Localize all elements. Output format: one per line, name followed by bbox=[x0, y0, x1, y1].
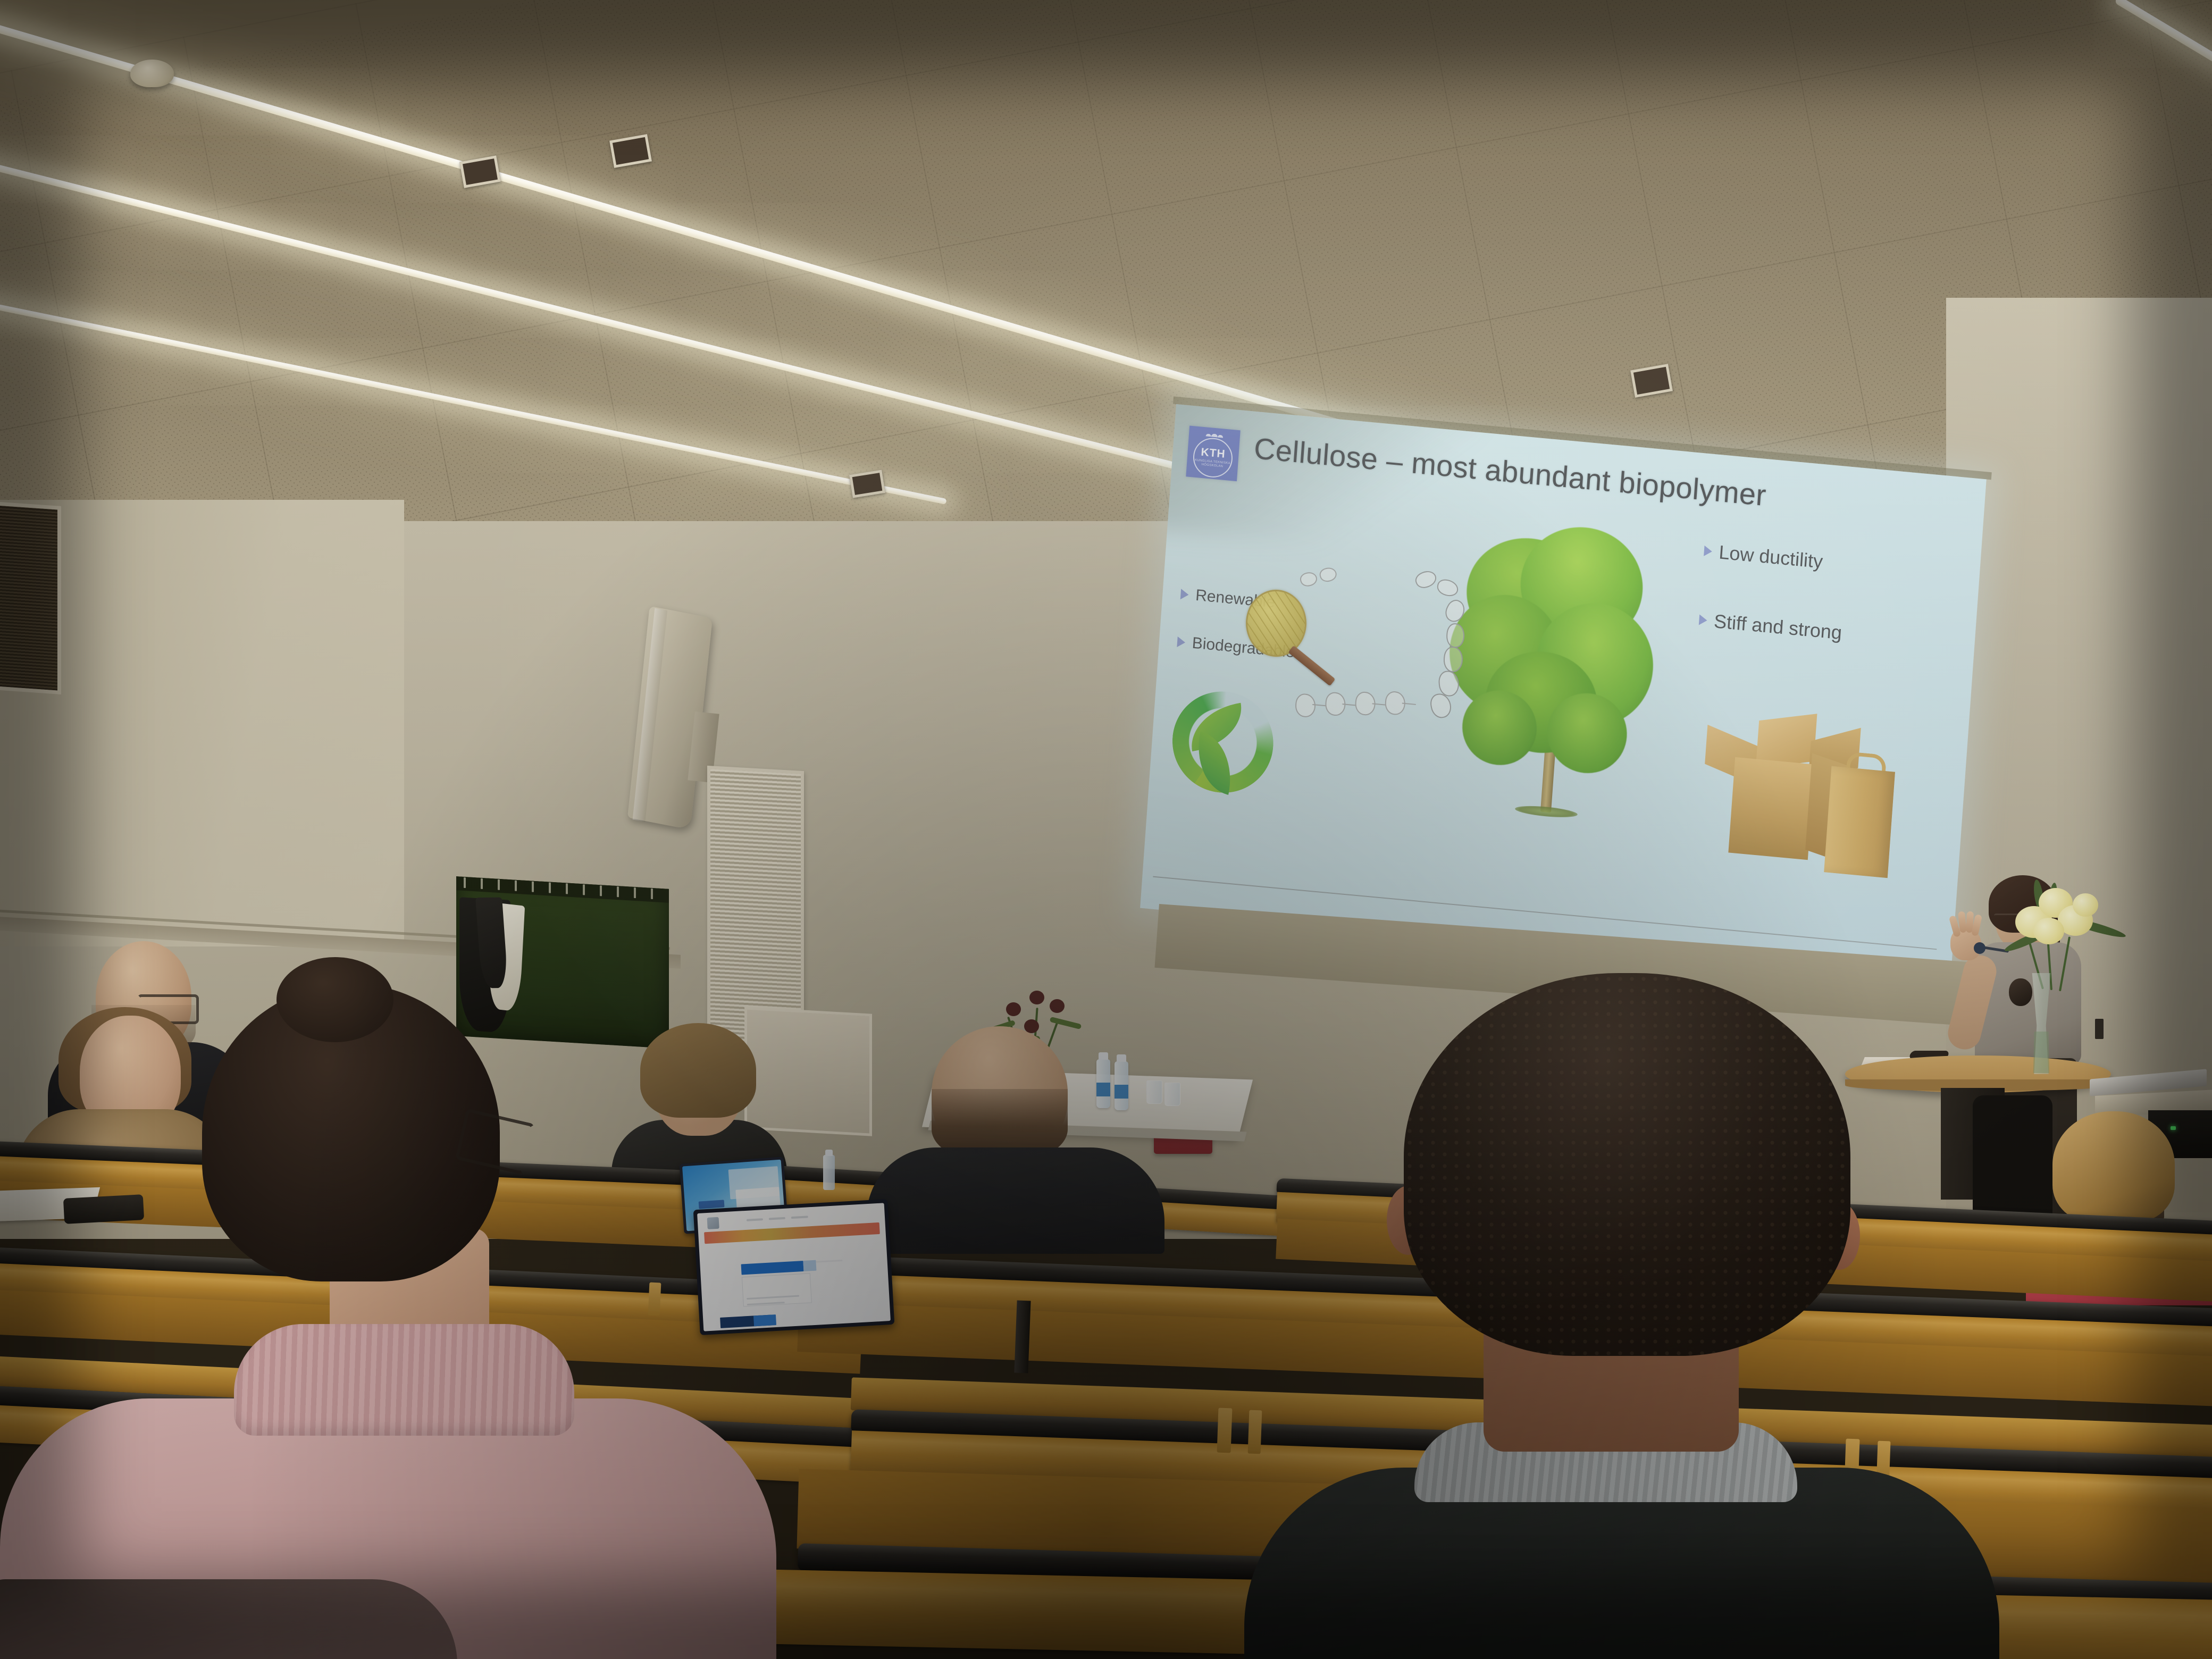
bullet-triangle-icon bbox=[1704, 546, 1712, 557]
coat-hook-icon bbox=[634, 887, 636, 898]
flower-head bbox=[2033, 918, 2064, 944]
cellulose-chain-graphic bbox=[1286, 559, 1457, 749]
bullet-triangle-icon bbox=[1180, 589, 1189, 600]
foreground-man-curly-hair bbox=[1308, 973, 1925, 1659]
coat-hook-icon bbox=[549, 882, 551, 893]
text-line bbox=[816, 1260, 842, 1263]
bullet-label: Stiff and strong bbox=[1713, 610, 1843, 644]
flower-bud bbox=[1050, 999, 1065, 1013]
flower-bouquet bbox=[1983, 872, 2154, 1010]
small-water-bottle[interactable] bbox=[823, 1155, 835, 1190]
shoulder-shadow bbox=[0, 1579, 457, 1659]
cellulose-ring bbox=[1413, 568, 1439, 591]
tree-graphic-icon bbox=[1435, 510, 1679, 828]
kth-logo-text: KTH bbox=[1201, 447, 1226, 460]
flower-bud bbox=[1006, 1002, 1021, 1016]
smoke-detector-icon bbox=[130, 60, 174, 87]
coat-hook-icon bbox=[583, 884, 585, 895]
slide-bullet-low-ductility: Low ductility bbox=[1703, 540, 1823, 573]
stem bbox=[2059, 936, 2071, 991]
bullet-triangle-icon bbox=[1177, 636, 1185, 648]
coat-hook-icon bbox=[498, 879, 500, 890]
hair-texture bbox=[1404, 973, 1850, 1356]
audience-man-dark-suit bbox=[872, 1026, 1159, 1250]
flower-bud bbox=[1029, 991, 1044, 1004]
coat-hook-icon bbox=[566, 883, 568, 894]
coat-hook-icon bbox=[600, 885, 602, 896]
turtleneck-collar bbox=[234, 1324, 574, 1436]
eco-recycle-leaf-icon bbox=[1169, 687, 1277, 797]
coat-hook-icon bbox=[617, 886, 619, 897]
coat-hook-icon bbox=[515, 881, 517, 891]
bullet-label: Low ductility bbox=[1718, 541, 1823, 573]
flower-head bbox=[2073, 893, 2098, 917]
bench-support bbox=[1014, 1301, 1030, 1373]
bullet-triangle-icon bbox=[1699, 615, 1707, 626]
hair-bun bbox=[276, 957, 393, 1042]
glucose-unit bbox=[1318, 566, 1338, 583]
wall-grille-panel bbox=[0, 502, 61, 694]
small-bottle-cap bbox=[825, 1150, 833, 1156]
box-front-face bbox=[1728, 757, 1814, 860]
glucose-unit bbox=[1298, 571, 1319, 588]
blonde-hair bbox=[2052, 1111, 2175, 1223]
coat-hook-icon bbox=[532, 882, 534, 892]
kth-logo-ring: KTH KUNGLIGA TEKNISKA HÖGSKOLAN bbox=[1192, 436, 1234, 479]
coat-hook-icon bbox=[464, 877, 466, 888]
kth-logo-icon: KTH KUNGLIGA TEKNISKA HÖGSKOLAN bbox=[1186, 425, 1240, 481]
bench-divider bbox=[1248, 1410, 1262, 1454]
lecture-hall-photo: KTH KUNGLIGA TEKNISKA HÖGSKOLAN Cellulos… bbox=[0, 0, 2212, 1659]
glucose-unit bbox=[1295, 693, 1317, 718]
coat-hook-icon bbox=[481, 878, 483, 889]
suit-jacket bbox=[867, 1147, 1164, 1254]
coat-hook-icon bbox=[651, 889, 653, 899]
drinking-glass-2[interactable] bbox=[1164, 1083, 1180, 1106]
crown-icon bbox=[1205, 429, 1224, 438]
presentation-slide: KTH KUNGLIGA TEKNISKA HÖGSKOLAN Cellulos… bbox=[1140, 404, 1987, 983]
slide-bullet-stiff-strong: Stiff and strong bbox=[1698, 609, 1842, 644]
paper-bag-icon bbox=[1824, 766, 1895, 878]
kth-logo-subtitle: KUNGLIGA TEKNISKA HÖGSKOLAN bbox=[1194, 459, 1231, 470]
foreground-woman-pink-sweater bbox=[0, 978, 808, 1659]
bench-divider bbox=[1217, 1408, 1233, 1453]
cardboard-boxes-icon bbox=[1698, 710, 1915, 883]
